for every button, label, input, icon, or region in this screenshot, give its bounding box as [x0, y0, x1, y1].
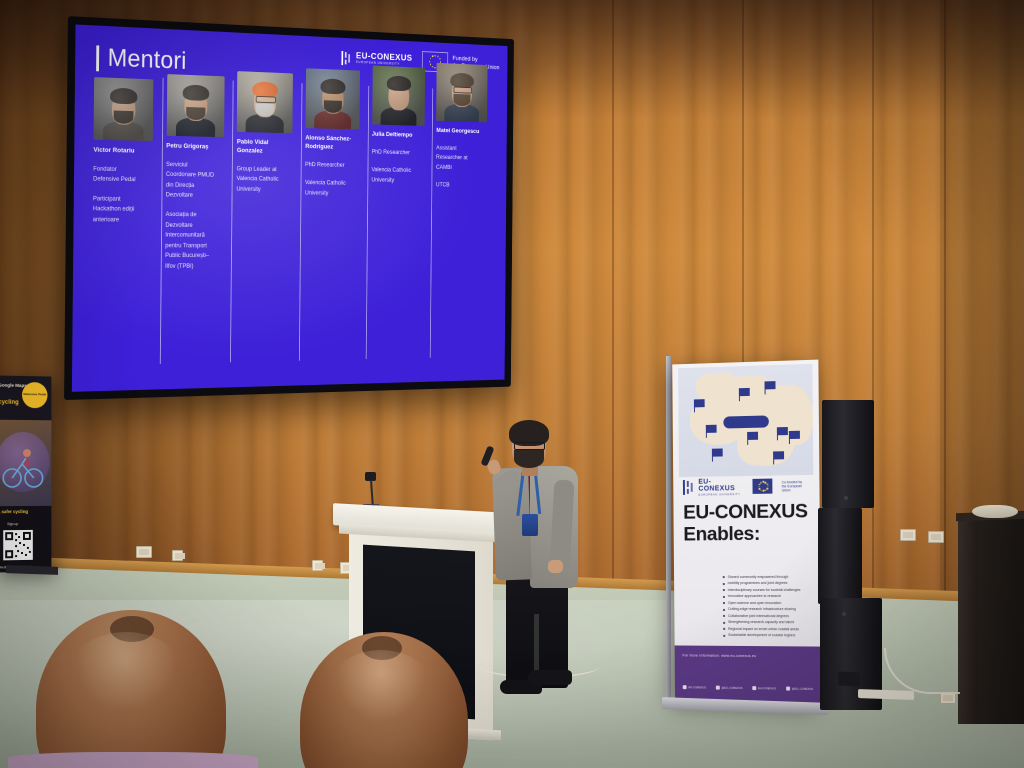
banner-social-links: EU-CONEXUS@EU_CONEXUSEU-CONEXUS@EU_CONEX… — [683, 685, 813, 691]
mentor-card: Victor RotariuFondator Defensive PedalPa… — [92, 77, 167, 281]
mentor-bio: Assistant Researcher at CAMBIUTCB — [436, 144, 494, 192]
slide-title: Mentori — [107, 44, 186, 76]
poster-artwork — [0, 420, 51, 506]
social-handle: EU-CONEXUS — [758, 687, 776, 690]
portrait-alonso-sanchez-rodriguez — [305, 68, 360, 129]
presenter-right-hand — [548, 560, 563, 573]
eu-conexus-rollup-banner: EU-CONEXUS EUROPEAN UNIVERSITY Co-funded… — [672, 360, 821, 704]
banner-logo-name: EU-CONEXUS — [698, 478, 743, 493]
mentor-card: Pablo Vidal GonzalezGroup Leader at Vale… — [236, 83, 306, 281]
mentor-bio-paragraph: Group Leader at Valencia Catholic Univer… — [236, 164, 300, 195]
presenter-shoe — [528, 670, 572, 685]
banner-pole — [666, 356, 671, 708]
social-link[interactable]: @EU_CONEXUS — [716, 686, 743, 690]
banner-title-line1: EU-CONEXUS — [683, 501, 808, 524]
poster-header: Google Maps cycling Defensive Pedal — [0, 375, 51, 420]
portrait-matei-georgescu — [436, 63, 487, 123]
wall-power-outlet — [312, 560, 323, 571]
conexus-mark-icon — [341, 51, 352, 66]
mentor-name: Pablo Vidal Gonzalez — [237, 139, 300, 158]
mentor-card: Matei GeorgescuAssistant Researcher at C… — [435, 90, 499, 279]
social-link[interactable]: @EU_CONEXUS — [786, 687, 813, 691]
av-cabinet — [958, 518, 1024, 724]
portrait-petru-grigoras — [166, 74, 224, 137]
banner-title: EU-CONEXUS Enables: — [683, 501, 808, 546]
eu-flag-icon — [753, 479, 773, 494]
poster-badge: Defensive Pedal — [22, 382, 47, 408]
social-icon — [716, 686, 720, 690]
mentor-card: Alonso Sánchez- RodríguezPhD ResearcherV… — [304, 85, 372, 280]
social-handle: @EU_CONEXUS — [722, 686, 743, 689]
banner-eu-line2: the European Union — [782, 484, 810, 493]
social-icon — [683, 685, 687, 689]
mentor-bio-paragraph: Asociația de Dezvoltare Intercomunitară … — [165, 210, 231, 272]
audience-shoulder-left — [8, 752, 258, 768]
pa-speaker-mid — [818, 508, 862, 604]
poster-caption: A safer cycling — [0, 509, 28, 514]
poster-badge-text: Defensive Pedal — [23, 393, 46, 397]
banner-logo-sub: EUROPEAN UNIVERSITY — [698, 493, 743, 496]
poster-signup-label: Sign-up — [7, 522, 18, 526]
projection-screen: EU-CONEXUS EUROPEAN UNIVERSITY Funded by… — [64, 16, 514, 400]
cyclist-icon — [0, 420, 51, 506]
banner-title-line2: Enables: — [683, 523, 808, 546]
banner-bullet-list: Shared community empowered throughmobili… — [684, 574, 809, 639]
banner-logos: EU-CONEXUS EUROPEAN UNIVERSITY Co-funded… — [683, 477, 810, 497]
social-handle: @EU_CONEXUS — [792, 687, 813, 690]
social-icon — [752, 686, 756, 690]
portrait-victor-rotariu — [94, 77, 154, 141]
presenter — [486, 418, 596, 710]
power-plug — [838, 671, 860, 686]
mentor-bio-paragraph: Serviciul Coordonare PMUD din Direcția D… — [166, 160, 232, 202]
cabinet-top-object — [972, 505, 1018, 518]
social-link[interactable]: EU-CONEXUS — [683, 685, 706, 689]
pa-speaker-top — [822, 400, 874, 508]
banner-map-logo-chip — [723, 415, 769, 428]
wall-power-outlet — [928, 531, 944, 543]
mentor-list: Victor RotariuFondator Defensive PedalPa… — [92, 77, 499, 281]
mentor-bio-paragraph: PhD Researcher — [372, 148, 432, 159]
mentor-name: Julia Deltiempo — [372, 131, 432, 141]
mentor-bio-paragraph: Valencia Catholic University — [305, 179, 367, 200]
glasses-icon — [514, 442, 545, 450]
mentor-name: Alonso Sánchez- Rodríguez — [305, 135, 366, 153]
wall-power-outlet — [136, 546, 152, 558]
mentor-bio: Serviciul Coordonare PMUD din Direcția D… — [165, 160, 231, 272]
power-strip — [858, 689, 914, 700]
banner-footer: For more information: www.eu-conexus.eu … — [675, 645, 822, 703]
conference-room-photo: EU-CONEXUS EUROPEAN UNIVERSITY Funded by… — [0, 0, 1024, 768]
banner-bullet: Sustainable development of coastal regio… — [723, 632, 808, 639]
mentor-bio: Group Leader at Valencia Catholic Univer… — [236, 164, 300, 195]
slide-title-block: Mentori — [96, 43, 187, 75]
cycling-poster: Google Maps cycling Defensive Pedal A sa… — [0, 375, 51, 572]
cabinet-door — [958, 518, 978, 724]
poster-headline: cycling — [0, 400, 19, 406]
qr-code-icon — [3, 530, 33, 560]
mentor-bio-paragraph: Fondator Defensive Pedal — [93, 164, 160, 186]
social-icon — [786, 687, 790, 691]
mentor-bio-paragraph: Valencia Catholic University — [371, 166, 431, 187]
wall-power-outlet — [172, 550, 183, 561]
mentor-bio: PhD ResearcherValencia Catholic Universi… — [371, 148, 431, 187]
portrait-julia-deltiempo — [372, 66, 425, 126]
mentor-card: Julia DeltiempoPhD ResearcherValencia Ca… — [370, 88, 436, 280]
mentor-name: Petru Grigoraș — [166, 143, 231, 153]
mentor-bio-paragraph: UTCB — [436, 181, 494, 192]
conexus-mark-icon — [683, 480, 695, 495]
presenter-beard — [514, 450, 544, 468]
poster-brand: Google Maps — [0, 383, 27, 389]
mentor-name: Victor Rotariu — [93, 147, 160, 157]
lanyard-badge-icon — [522, 514, 538, 536]
mentor-bio-paragraph: PhD Researcher — [305, 160, 366, 171]
banner-conexus-logo: EU-CONEXUS EUROPEAN UNIVERSITY — [683, 478, 744, 497]
mentor-card: Petru GrigorașServiciul Coordonare PMUD … — [165, 80, 238, 281]
mentor-bio-paragraph: Participant Hackathon ediții anterioare — [93, 194, 161, 226]
mentor-bio: PhD ResearcherValencia Catholic Universi… — [305, 160, 367, 199]
mentor-bio-paragraph: Assistant Researcher at CAMBI — [436, 144, 494, 174]
social-handle: EU-CONEXUS — [689, 686, 706, 689]
banner-footer-info: For more information: www.eu-conexus.eu — [682, 653, 756, 658]
mentor-name: Matei Georgescu — [436, 127, 494, 137]
europe-map-graphic — [678, 364, 813, 477]
portrait-pablo-vidal-gonzalez — [237, 71, 293, 133]
title-accent-bar — [96, 45, 99, 71]
slide-surface: EU-CONEXUS EUROPEAN UNIVERSITY Funded by… — [72, 24, 508, 391]
wall-power-outlet — [900, 529, 916, 541]
mentor-bio: Fondator Defensive PedalParticipant Hack… — [93, 164, 161, 226]
social-link[interactable]: EU-CONEXUS — [752, 686, 776, 690]
